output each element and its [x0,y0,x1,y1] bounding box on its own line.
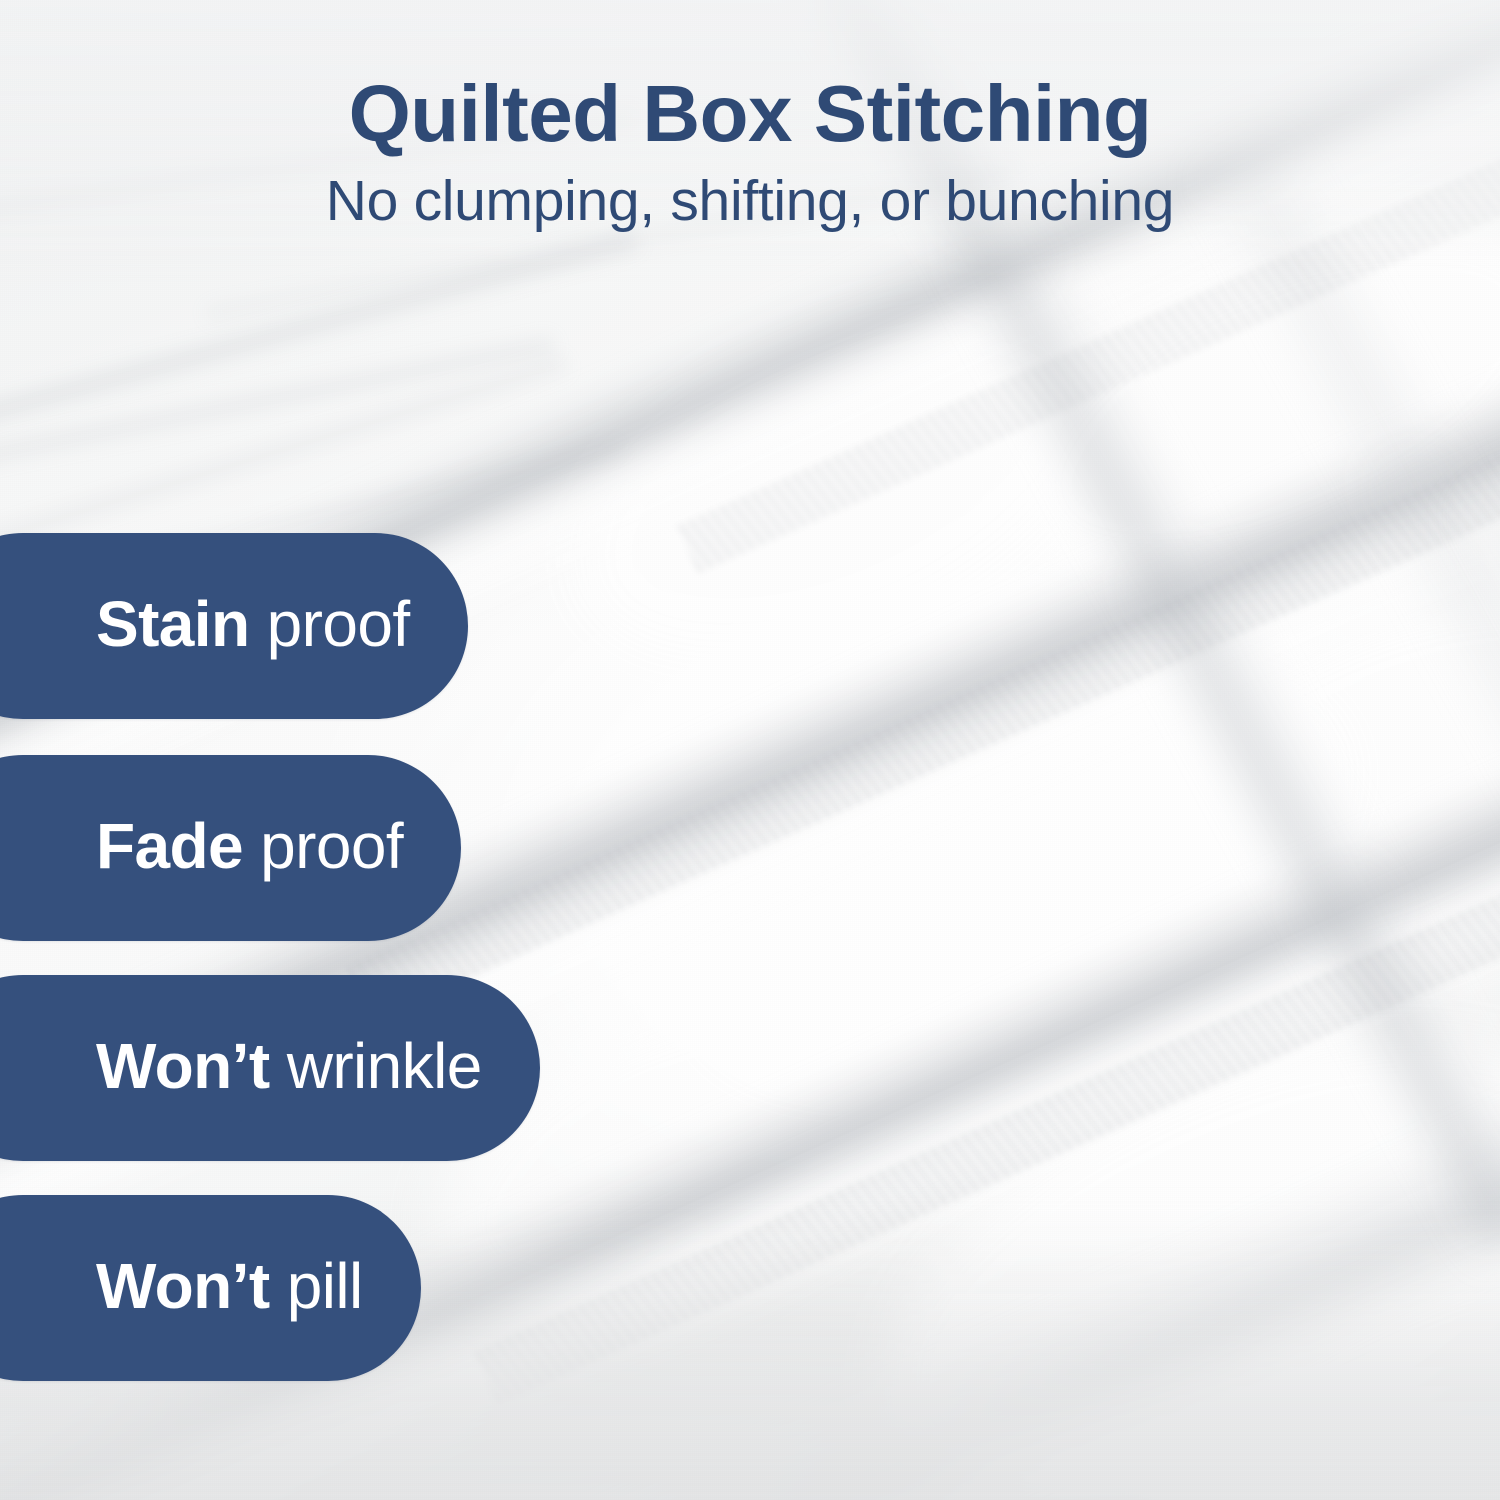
feature-pill-emphasis: Fade [96,810,243,882]
feature-pill-label: Fade proof [96,814,403,878]
feature-pill-emphasis: Won’t [96,1030,270,1102]
feature-pill-wont-wrinkle: Won’t wrinkle [0,975,540,1161]
feature-pill-emphasis: Won’t [96,1250,270,1322]
feature-pill-rest: wrinkle [270,1030,482,1102]
feature-pill-label: Won’t wrinkle [96,1034,482,1098]
feature-pill-label: Won’t pill [96,1254,363,1318]
feature-pill-rest: proof [243,810,403,882]
feature-pill-stain-proof: Stain proof [0,533,468,719]
feature-pill-emphasis: Stain [96,588,249,660]
product-feature-graphic: Quilted Box Stitching No clumping, shift… [0,0,1500,1500]
headline-block: Quilted Box Stitching No clumping, shift… [0,72,1500,232]
feature-pill-wont-pill: Won’t pill [0,1195,421,1381]
feature-pill-rest: pill [270,1250,363,1322]
page-title: Quilted Box Stitching [0,72,1500,155]
feature-pill-fade-proof: Fade proof [0,755,461,941]
page-subtitle: No clumping, shifting, or bunching [0,171,1500,231]
feature-pill-rest: proof [249,588,409,660]
feature-pill-label: Stain proof [96,592,410,656]
